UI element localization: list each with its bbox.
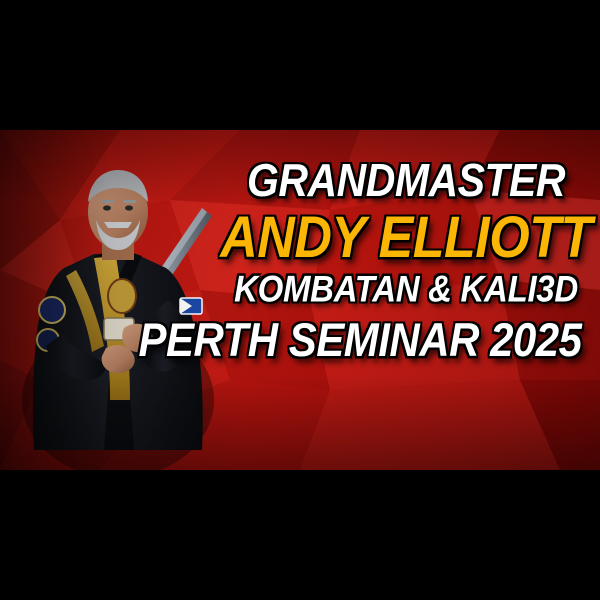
chest-patch-arnis: [108, 279, 136, 313]
poster-frame: GRANDMASTER ANDY ELLIOTT KOMBATAN & KALI…: [0, 0, 600, 600]
head: [88, 170, 148, 260]
headline-grandmaster: GRANDMASTER: [220, 158, 592, 204]
letterbox-bottom: [0, 470, 600, 600]
shoulder-patch-left: [39, 297, 65, 323]
headline-styles: KOMBATAN & KALI3D: [220, 270, 592, 307]
martial-artist-with-sword: [6, 150, 246, 470]
poster-text-block: GRANDMASTER ANDY ELLIOTT KOMBATAN & KALI…: [220, 158, 592, 359]
seminar-banner-image: GRANDMASTER ANDY ELLIOTT KOMBATAN & KALI…: [0, 130, 600, 470]
headline-event: PERTH SEMINAR 2025: [128, 317, 592, 364]
headline-name: ANDY ELLIOTT: [220, 209, 592, 267]
letterbox-top: [0, 0, 600, 130]
